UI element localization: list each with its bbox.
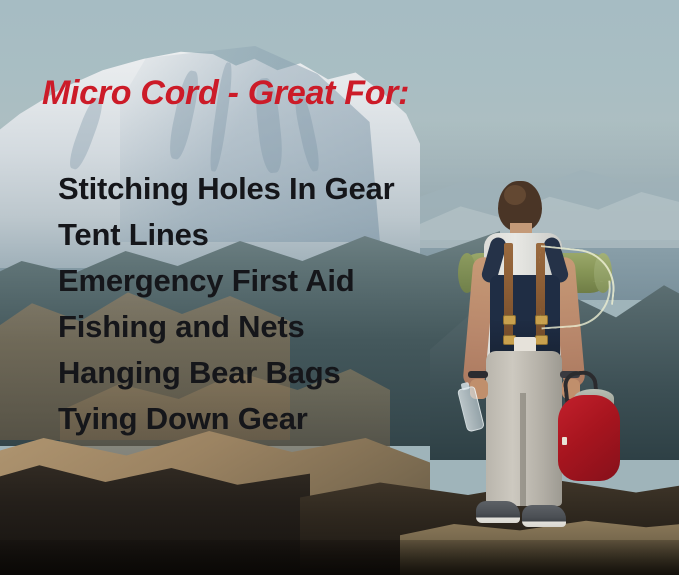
stuff-sack-tag: [562, 437, 567, 445]
hiker-shoe-left: [476, 501, 520, 523]
list-item: Fishing and Nets: [58, 304, 394, 350]
hiker-figure: [440, 175, 679, 575]
hiker-wristwatch: [468, 371, 488, 378]
list-item: Emergency First Aid: [58, 258, 394, 304]
use-case-list: Stitching Holes In Gear Tent Lines Emerg…: [58, 166, 394, 442]
list-item: Stitching Holes In Gear: [58, 166, 394, 212]
backpack-buckle: [535, 335, 548, 345]
red-stuff-sack: [558, 395, 620, 481]
backpack-buckle: [503, 315, 516, 325]
list-item: Tent Lines: [58, 212, 394, 258]
product-feature-poster: Micro Cord - Great For: Stitching Holes …: [0, 0, 679, 575]
hiker-sweatpants: [486, 351, 562, 506]
hiker-shoe-right: [522, 505, 566, 527]
backpack-bungee-cord-lower: [539, 281, 614, 330]
list-item: Tying Down Gear: [58, 396, 394, 442]
list-item: Hanging Bear Bags: [58, 350, 394, 396]
poster-title: Micro Cord - Great For:: [42, 74, 409, 113]
